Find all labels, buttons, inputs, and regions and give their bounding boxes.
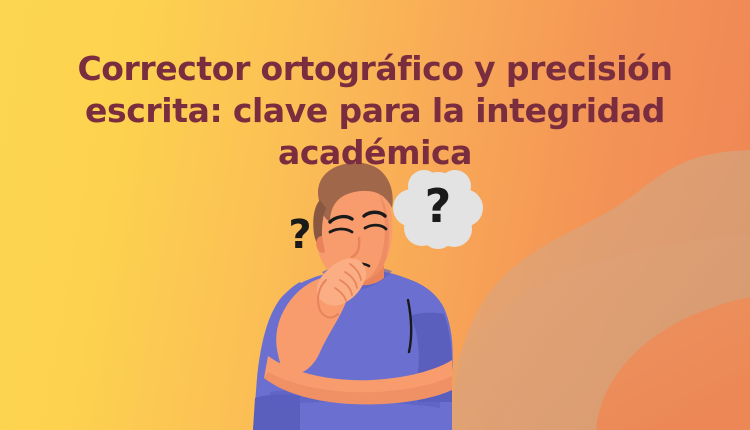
thinking-man-illustration: ? ? (0, 0, 750, 430)
thought-bubble: ? (393, 170, 483, 249)
floating-question-mark-icon: ? (288, 212, 311, 258)
thought-bubble-question-mark: ? (425, 179, 452, 233)
banner-graphic: ? ? Corrector ortográfico y precisión es… (0, 0, 750, 430)
